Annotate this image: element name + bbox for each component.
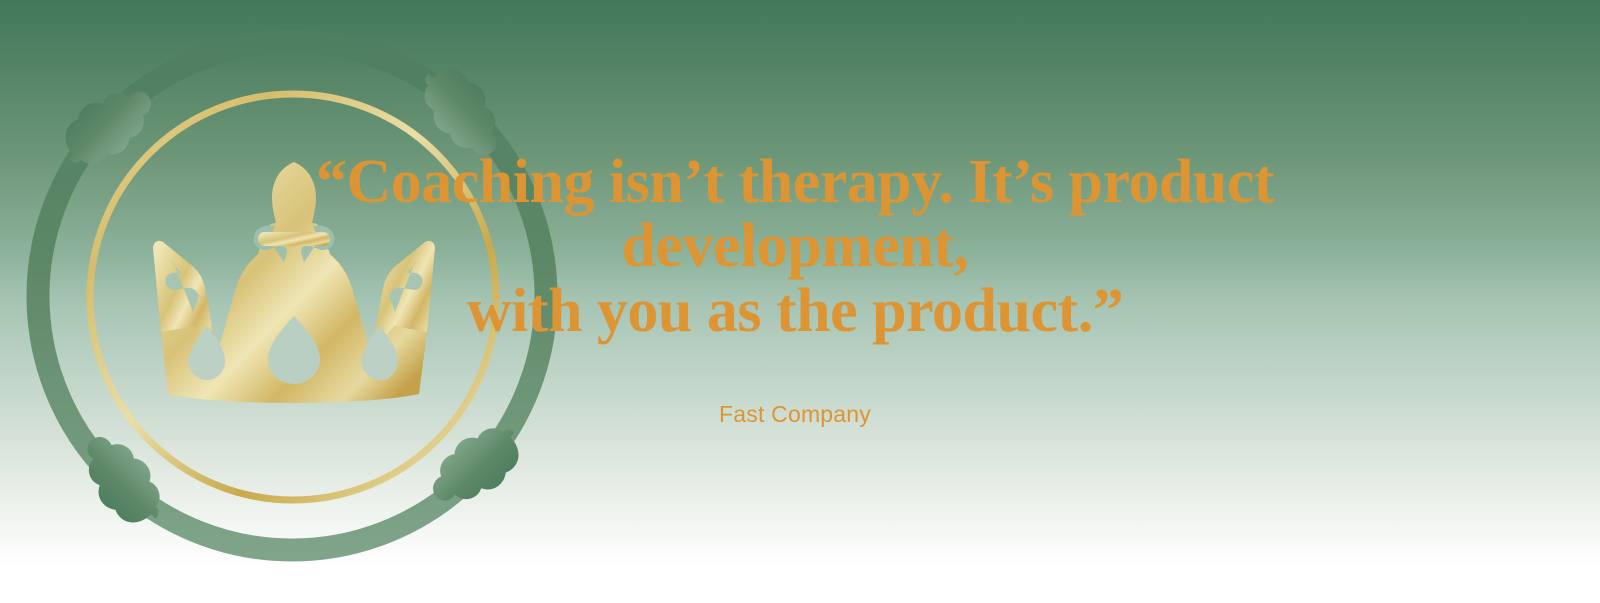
quote-banner: “Coaching isn’t therapy. It’s product de… (0, 0, 1600, 603)
quote-attribution: Fast Company (200, 401, 1390, 428)
quote-text: “Coaching isn’t therapy. It’s product de… (200, 150, 1390, 343)
quote-block: “Coaching isn’t therapy. It’s product de… (200, 150, 1390, 428)
